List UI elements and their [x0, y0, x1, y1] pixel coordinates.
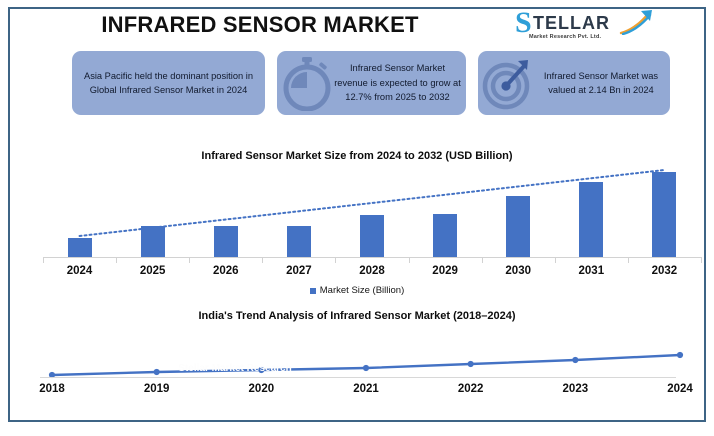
- x-axis-tick: [335, 257, 336, 263]
- highlight-box-region-text: Asia Pacific held the dominant position …: [72, 51, 265, 115]
- bar-chart-x-axis: [43, 257, 701, 258]
- bar-2026: [214, 226, 238, 257]
- bar-2025: [141, 226, 165, 257]
- line-x-label-2019: 2019: [127, 383, 187, 395]
- x-axis-tick: [409, 257, 410, 263]
- infographic-root: INFRARED SENSOR MARKET S TELLAR Market R…: [0, 0, 714, 436]
- line-chart-title: India's Trend Analysis of Infrared Senso…: [10, 310, 704, 322]
- bar-chart-x-labels: 202420252026202720282029203020312032: [43, 265, 701, 283]
- line-marker-2021: [363, 365, 369, 371]
- line-x-label-2024: 2024: [650, 383, 710, 395]
- bar-2024: [68, 238, 92, 257]
- highlight-box-region: Asia Pacific held the dominant position …: [72, 51, 265, 115]
- target-arrow-icon: [482, 55, 534, 111]
- line-x-label-2020: 2020: [231, 383, 291, 395]
- x-label-2029: 2029: [409, 265, 482, 277]
- line-chart-svg: [28, 329, 704, 379]
- page-title: INFRARED SENSOR MARKET: [10, 12, 510, 38]
- line-chart-plot-area: [28, 329, 704, 375]
- bar-2027: [287, 226, 311, 257]
- bar-2028: [360, 215, 384, 257]
- legend-swatch-icon: [310, 288, 316, 294]
- x-label-2024: 2024: [43, 265, 116, 277]
- x-label-2032: 2032: [628, 265, 701, 277]
- highlight-boxes: Asia Pacific held the dominant position …: [10, 51, 704, 121]
- line-x-label-2021: 2021: [336, 383, 396, 395]
- logo-tagline: Market Research Pvt. Ltd.: [529, 34, 601, 40]
- x-axis-tick: [701, 257, 702, 263]
- bar-2031: [579, 182, 603, 257]
- infographic-frame: INFRARED SENSOR MARKET S TELLAR Market R…: [8, 7, 706, 422]
- logo-wordmark: TELLAR: [533, 13, 610, 34]
- line-x-label-2022: 2022: [441, 383, 501, 395]
- line-chart: India's Trend Analysis of Infrared Senso…: [10, 305, 704, 423]
- highlight-box-value: Infrared Sensor Market was valued at 2.1…: [478, 51, 670, 115]
- line-x-label-2018: 2018: [22, 383, 82, 395]
- highlight-box-value-text: Infrared Sensor Market was valued at 2.1…: [532, 51, 670, 115]
- line-marker-2024: [677, 352, 683, 358]
- line-marker-2022: [468, 361, 474, 367]
- bar-chart: Infrared Sensor Market Size from 2024 to…: [10, 147, 704, 305]
- x-label-2031: 2031: [555, 265, 628, 277]
- x-axis-tick: [189, 257, 190, 263]
- bar-2032: [652, 172, 676, 257]
- x-axis-tick: [555, 257, 556, 263]
- line-x-label-2023: 2023: [545, 383, 605, 395]
- x-label-2028: 2028: [335, 265, 408, 277]
- bar-chart-title: Infrared Sensor Market Size from 2024 to…: [10, 150, 704, 162]
- line-chart-x-axis: [40, 377, 676, 378]
- header: INFRARED SENSOR MARKET S TELLAR Market R…: [10, 9, 704, 49]
- stopwatch-icon: [281, 55, 333, 111]
- bar-chart-plot-area: [43, 167, 701, 257]
- legend-label: Market Size (Billion): [320, 285, 404, 296]
- x-axis-tick: [482, 257, 483, 263]
- x-label-2026: 2026: [189, 265, 262, 277]
- x-label-2027: 2027: [262, 265, 335, 277]
- growth-arrow-icon: [619, 9, 653, 40]
- bar-2029: [433, 214, 457, 257]
- x-axis-tick: [628, 257, 629, 263]
- highlight-box-cagr-text: Infrared Sensor Market revenue is expect…: [329, 51, 466, 115]
- line-chart-x-labels: 2018201920202021202220232024: [28, 383, 704, 401]
- x-axis-tick: [262, 257, 263, 263]
- x-axis-tick: [43, 257, 44, 263]
- x-axis-tick: [116, 257, 117, 263]
- x-label-2030: 2030: [482, 265, 555, 277]
- x-label-2025: 2025: [116, 265, 189, 277]
- bar-2030: [506, 196, 530, 257]
- stellar-logo[interactable]: S TELLAR Market Research Pvt. Ltd.: [515, 11, 655, 47]
- line-marker-2023: [572, 357, 578, 363]
- highlight-box-cagr: Infrared Sensor Market revenue is expect…: [277, 51, 466, 115]
- bar-chart-legend: Market Size (Billion): [10, 285, 704, 296]
